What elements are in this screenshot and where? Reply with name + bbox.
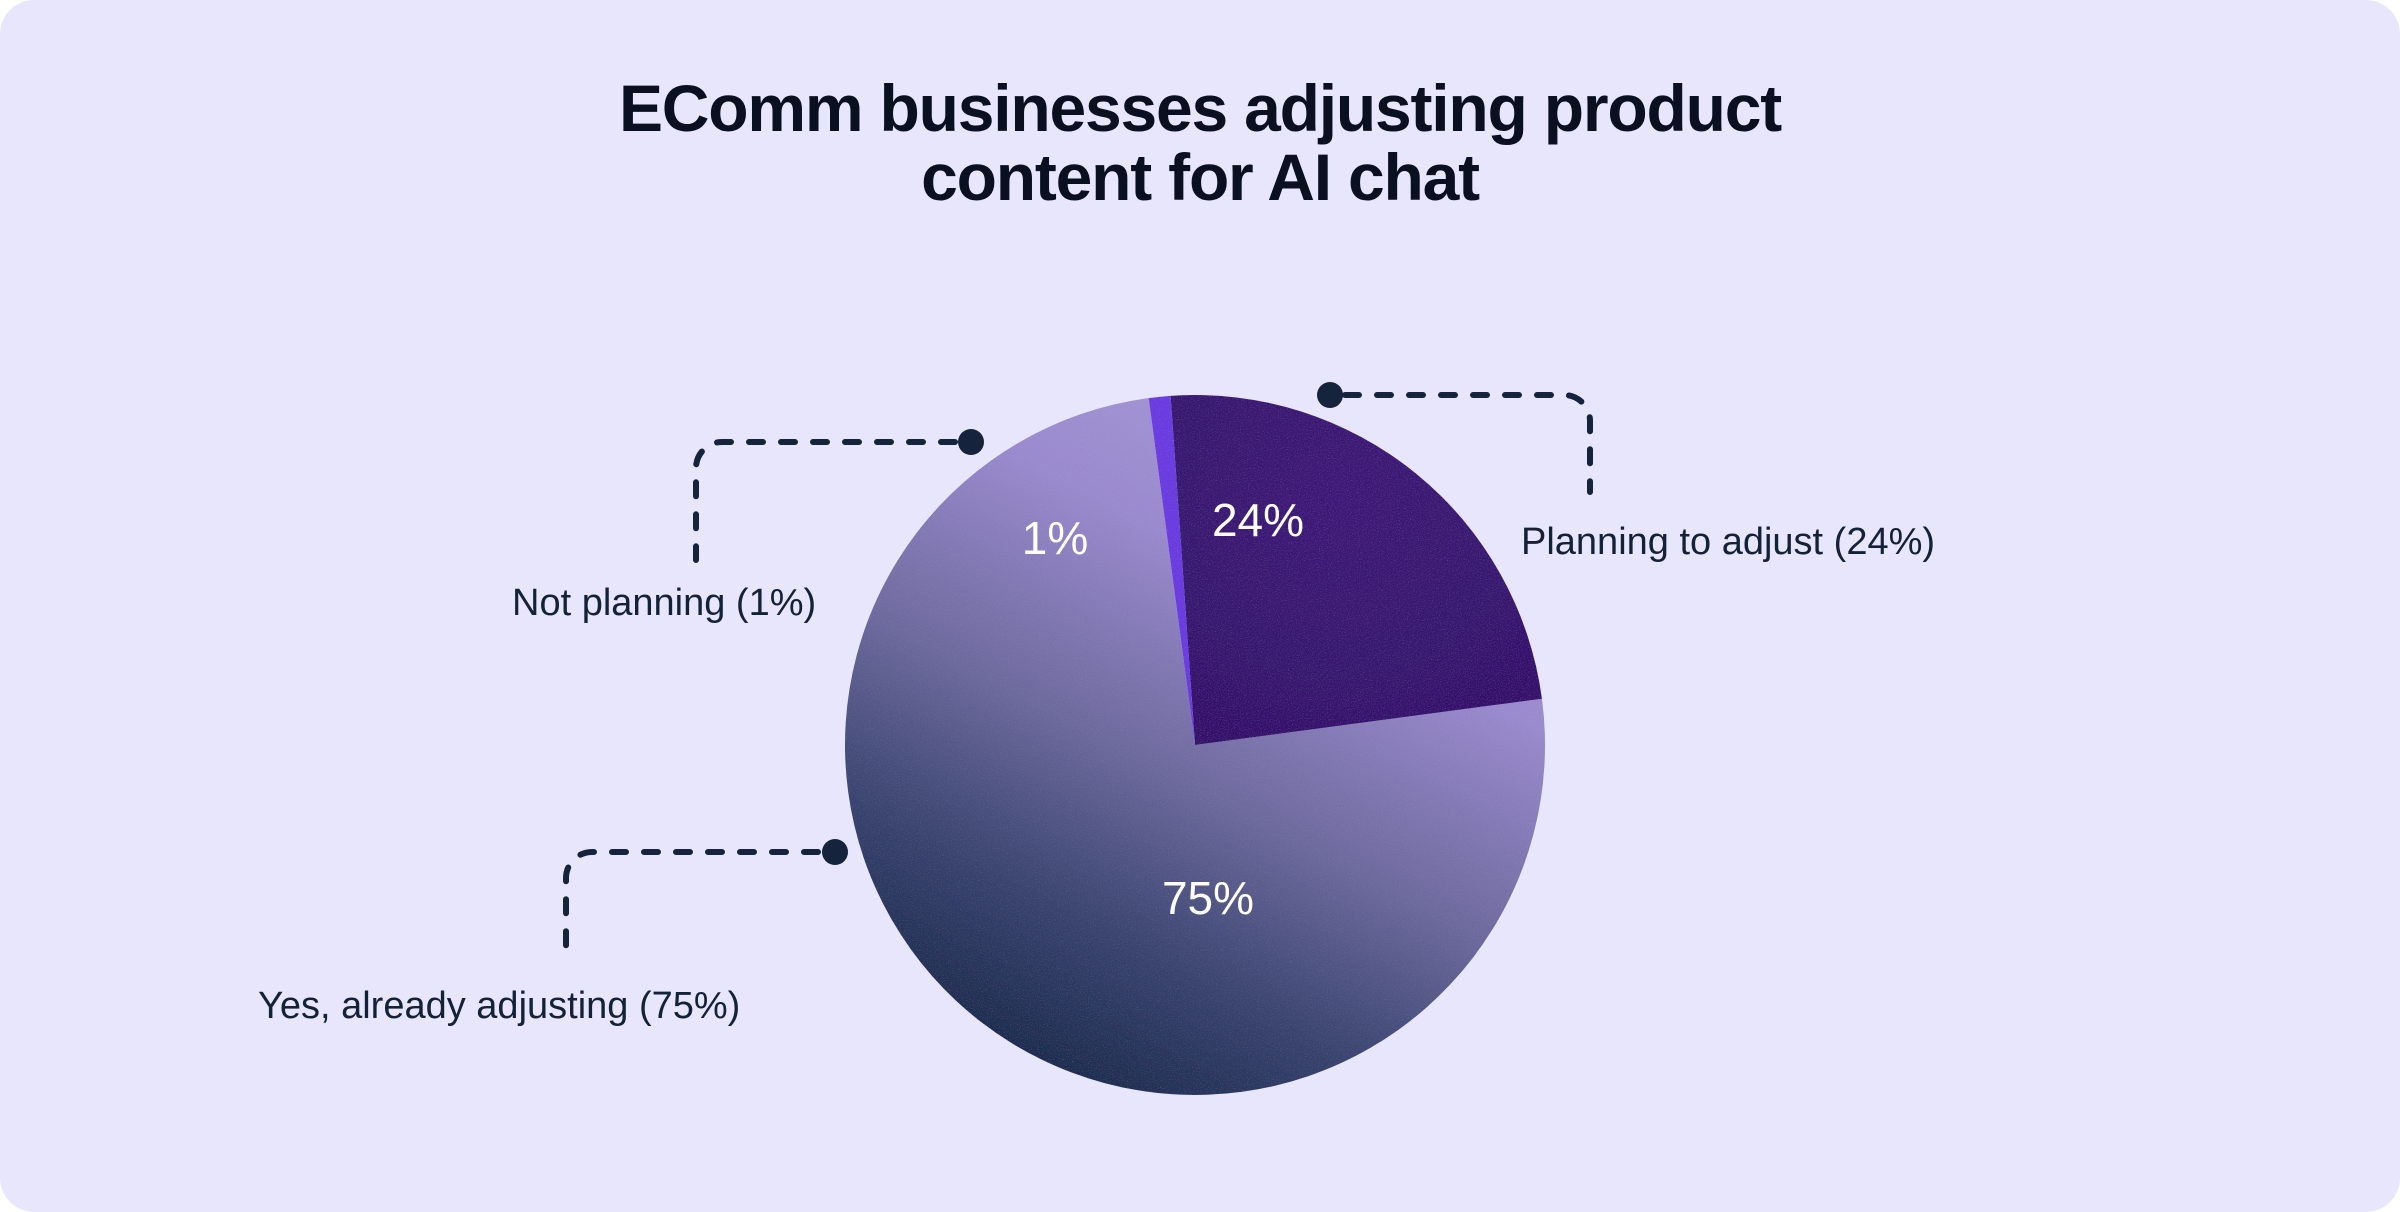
page-title: EComm businesses adjusting product conte… — [0, 74, 2400, 213]
leader-line-yes-adjusting — [566, 852, 818, 962]
slice-value-yes-adjusting: 75% — [1162, 871, 1254, 925]
slice-value-not-planning: 1% — [1022, 511, 1088, 565]
pie-slice-planning-to-adjust[interactable] — [1171, 395, 1542, 745]
callout-label-yes-adjusting: Yes, already adjusting (75%) — [258, 985, 740, 1028]
pie-chart — [845, 395, 1545, 1095]
callout-label-not-planning: Not planning (1%) — [512, 582, 816, 625]
slice-value-planning-to-adjust: 24% — [1212, 493, 1304, 547]
chart-canvas: EComm businesses adjusting product conte… — [0, 0, 2400, 1212]
callout-label-planning-to-adjust: Planning to adjust (24%) — [1521, 521, 1935, 564]
